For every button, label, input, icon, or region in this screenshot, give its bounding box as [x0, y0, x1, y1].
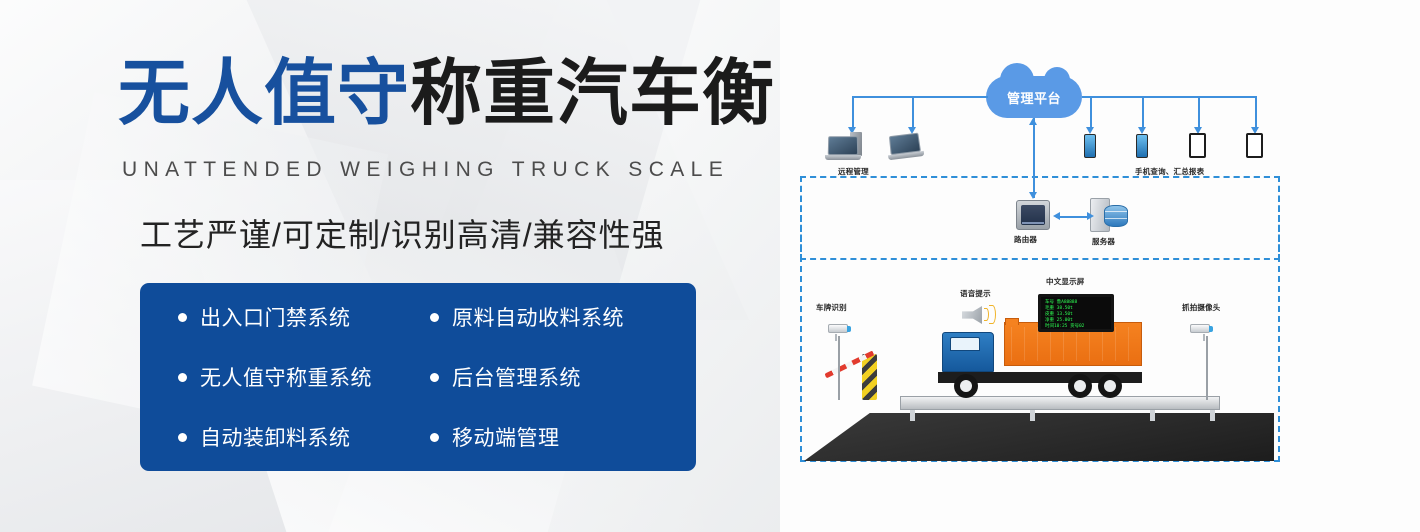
smartphone-icon	[1136, 134, 1148, 158]
connector-cloud-router	[1033, 118, 1035, 198]
capture-camera-icon	[1190, 324, 1210, 333]
remote-management-label: 远程管理	[838, 166, 869, 177]
promo-banner: 无人值守称重汽车衡 UNATTENDED WEIGHING TRUCK SCAL…	[0, 0, 1420, 532]
cloud-label: 管理平台	[1007, 88, 1061, 107]
sound-wave-icon	[989, 305, 996, 324]
title-rest: 称重汽车衡	[410, 54, 775, 134]
monitor-base	[825, 155, 861, 160]
feature-list-box: 出入口门禁系统 原料自动收料系统 无人值守称重系统 后台管理系统 自动装卸料系统…	[140, 283, 696, 471]
truck-bed-ribs	[1011, 327, 1135, 361]
connector-drop-tablet1	[1198, 96, 1200, 128]
camera-pole-left	[838, 336, 840, 400]
feature-item-2[interactable]: 原料自动收料系统	[430, 302, 696, 332]
voice-prompt-label: 语音提示	[960, 288, 991, 299]
license-plate-camera-icon	[828, 324, 848, 333]
camera-mount-left	[835, 334, 837, 341]
feature-label: 原料自动收料系统	[452, 302, 624, 332]
connector-drop-tablet2	[1255, 96, 1257, 128]
router-leds	[1022, 222, 1044, 224]
ground-plane	[804, 413, 1274, 461]
server-label: 服务器	[1092, 236, 1115, 247]
bullet-dot-icon	[178, 433, 187, 442]
laptop-screen	[889, 133, 921, 155]
platform-leg	[1030, 410, 1035, 421]
feature-item-4[interactable]: 后台管理系统	[430, 362, 696, 392]
smartphone-icon	[1084, 134, 1096, 158]
truck-window	[950, 337, 980, 351]
page-title: 无人值守称重汽车衡	[118, 58, 775, 130]
system-architecture-diagram: 管理平台 远程管理	[790, 18, 1290, 488]
tablet-icon	[1246, 133, 1263, 158]
connector-bus-right	[1082, 96, 1257, 98]
arrow-left-icon	[1053, 212, 1060, 220]
connector-drop-laptop2	[912, 96, 914, 128]
cloud-platform-icon: 管理平台	[986, 76, 1082, 118]
camera-mount-right	[1203, 334, 1205, 341]
feature-item-3[interactable]: 无人值守称重系统	[178, 362, 430, 392]
connector-bus-left	[852, 96, 988, 98]
laptop-icon	[889, 132, 925, 160]
feature-item-6[interactable]: 移动端管理	[430, 422, 696, 452]
truck-wheel	[954, 374, 978, 398]
feature-label: 无人值守称重系统	[200, 362, 372, 392]
feature-label: 自动装卸料系统	[200, 422, 351, 452]
connector-drop-laptop1	[852, 96, 854, 128]
desktop-computer-icon	[828, 130, 874, 160]
arrow-down-icon	[1029, 192, 1037, 199]
tagline: 工艺严谨/可定制/识别高清/兼容性强	[140, 210, 665, 256]
arrow-up-icon	[1029, 118, 1037, 125]
bullet-dot-icon	[430, 373, 439, 382]
bullet-dot-icon	[178, 373, 187, 382]
feature-label: 移动端管理	[452, 422, 560, 452]
subtitle-english: UNATTENDED WEIGHING TRUCK SCALE	[122, 158, 729, 182]
pc-monitor-icon	[828, 136, 861, 160]
bullet-dot-icon	[430, 313, 439, 322]
database-cylinder-icon	[1104, 205, 1128, 227]
tablet-icon	[1189, 133, 1206, 158]
platform-leg	[1150, 410, 1155, 421]
feature-label: 出入口门禁系统	[200, 302, 351, 332]
connector-router-server	[1056, 216, 1090, 218]
barrier-gate-post	[862, 354, 877, 400]
led-line: 时间10:25 货号02	[1045, 324, 1107, 330]
monitor-screen	[828, 136, 859, 155]
plate-recognition-label: 车牌识别	[816, 302, 847, 313]
arrow-down-icon	[1086, 127, 1094, 134]
display-screen-label: 中文显示屏	[1046, 276, 1085, 287]
platform-leg	[910, 410, 915, 421]
feature-label: 后台管理系统	[452, 362, 581, 392]
arrow-down-icon	[1138, 127, 1146, 134]
title-highlight: 无人值守	[118, 54, 410, 134]
connector-drop-phone2	[1142, 96, 1144, 128]
truck-wheel	[1098, 374, 1122, 398]
truck-wheel	[1068, 374, 1092, 398]
truck-cab	[942, 332, 994, 372]
feature-item-5[interactable]: 自动装卸料系统	[178, 422, 430, 452]
mobile-query-label: 手机查询、汇总报表	[1135, 166, 1204, 177]
capture-camera-label: 抓拍摄像头	[1182, 302, 1221, 313]
platform-leg	[1210, 410, 1215, 421]
connector-drop-phone1	[1090, 96, 1092, 128]
bullet-dot-icon	[430, 433, 439, 442]
camera-pole-right	[1206, 336, 1208, 400]
router-label: 路由器	[1014, 234, 1037, 245]
bullet-dot-icon	[178, 313, 187, 322]
led-display-screen: 车号 鲁A88888 毛重 38.50t 皮重 13.50t 净重 25.00t…	[1038, 294, 1114, 332]
feature-item-1[interactable]: 出入口门禁系统	[178, 302, 430, 332]
server-icon	[1090, 198, 1128, 232]
router-icon	[1016, 200, 1050, 230]
arrow-right-icon	[1087, 212, 1094, 220]
hero-text-pane: 无人值守称重汽车衡 UNATTENDED WEIGHING TRUCK SCAL…	[0, 0, 760, 532]
